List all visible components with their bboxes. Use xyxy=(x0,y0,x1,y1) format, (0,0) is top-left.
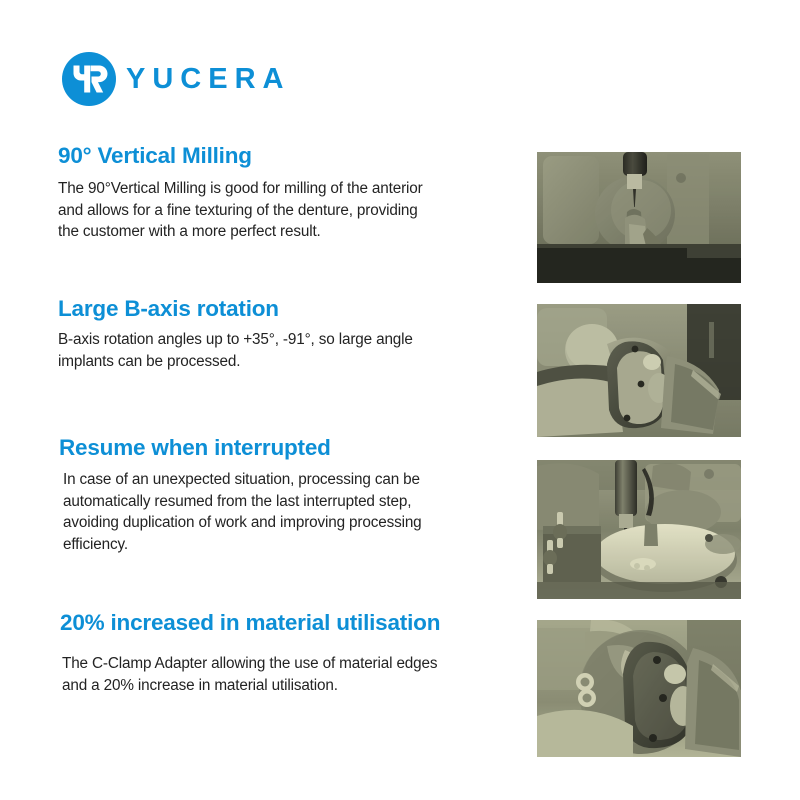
cnc-spindle-milling-disc-photo xyxy=(537,152,741,283)
feature-block-b-axis-rotation: Large B-axis rotation B-axis rotation an… xyxy=(0,296,440,372)
feature-photo-b-axis-rotation xyxy=(537,304,741,437)
feature-body-material-utilisation: The C-Clamp Adapter allowing the use of … xyxy=(0,653,440,696)
feature-heading-resume-when-interrupted: Resume when interrupted xyxy=(0,435,440,460)
feature-photo-resume-when-interrupted xyxy=(537,460,741,599)
feature-body-vertical-milling: The 90°Vertical Milling is good for mill… xyxy=(0,178,440,243)
brand-wordmark: YUCERA xyxy=(126,65,290,94)
spindle-milling-blank-with-toolchanger-photo xyxy=(537,460,741,599)
feature-body-b-axis-rotation: B-axis rotation angles up to +35°, -91°,… xyxy=(0,329,440,372)
c-clamp-adapter-holding-disc-photo xyxy=(537,620,741,757)
feature-heading-vertical-milling: 90° Vertical Milling xyxy=(0,143,440,168)
feature-photo-material-utilisation xyxy=(537,620,741,757)
feature-block-resume-when-interrupted: Resume when interrupted In case of an un… xyxy=(0,435,440,555)
feature-block-material-utilisation: 20% increased in material utilisation Th… xyxy=(0,610,440,696)
feature-heading-b-axis-rotation: Large B-axis rotation xyxy=(0,296,440,321)
feature-heading-material-utilisation: 20% increased in material utilisation xyxy=(0,610,440,635)
b-axis-rotary-clamp-photo xyxy=(537,304,741,437)
brand-logo: YUCERA xyxy=(62,52,290,106)
yucera-yr-monogram-icon xyxy=(62,52,116,106)
feature-photo-vertical-milling xyxy=(537,152,741,283)
feature-block-vertical-milling: 90° Vertical Milling The 90°Vertical Mil… xyxy=(0,143,440,243)
feature-body-resume-when-interrupted: In case of an unexpected situation, proc… xyxy=(0,469,440,555)
